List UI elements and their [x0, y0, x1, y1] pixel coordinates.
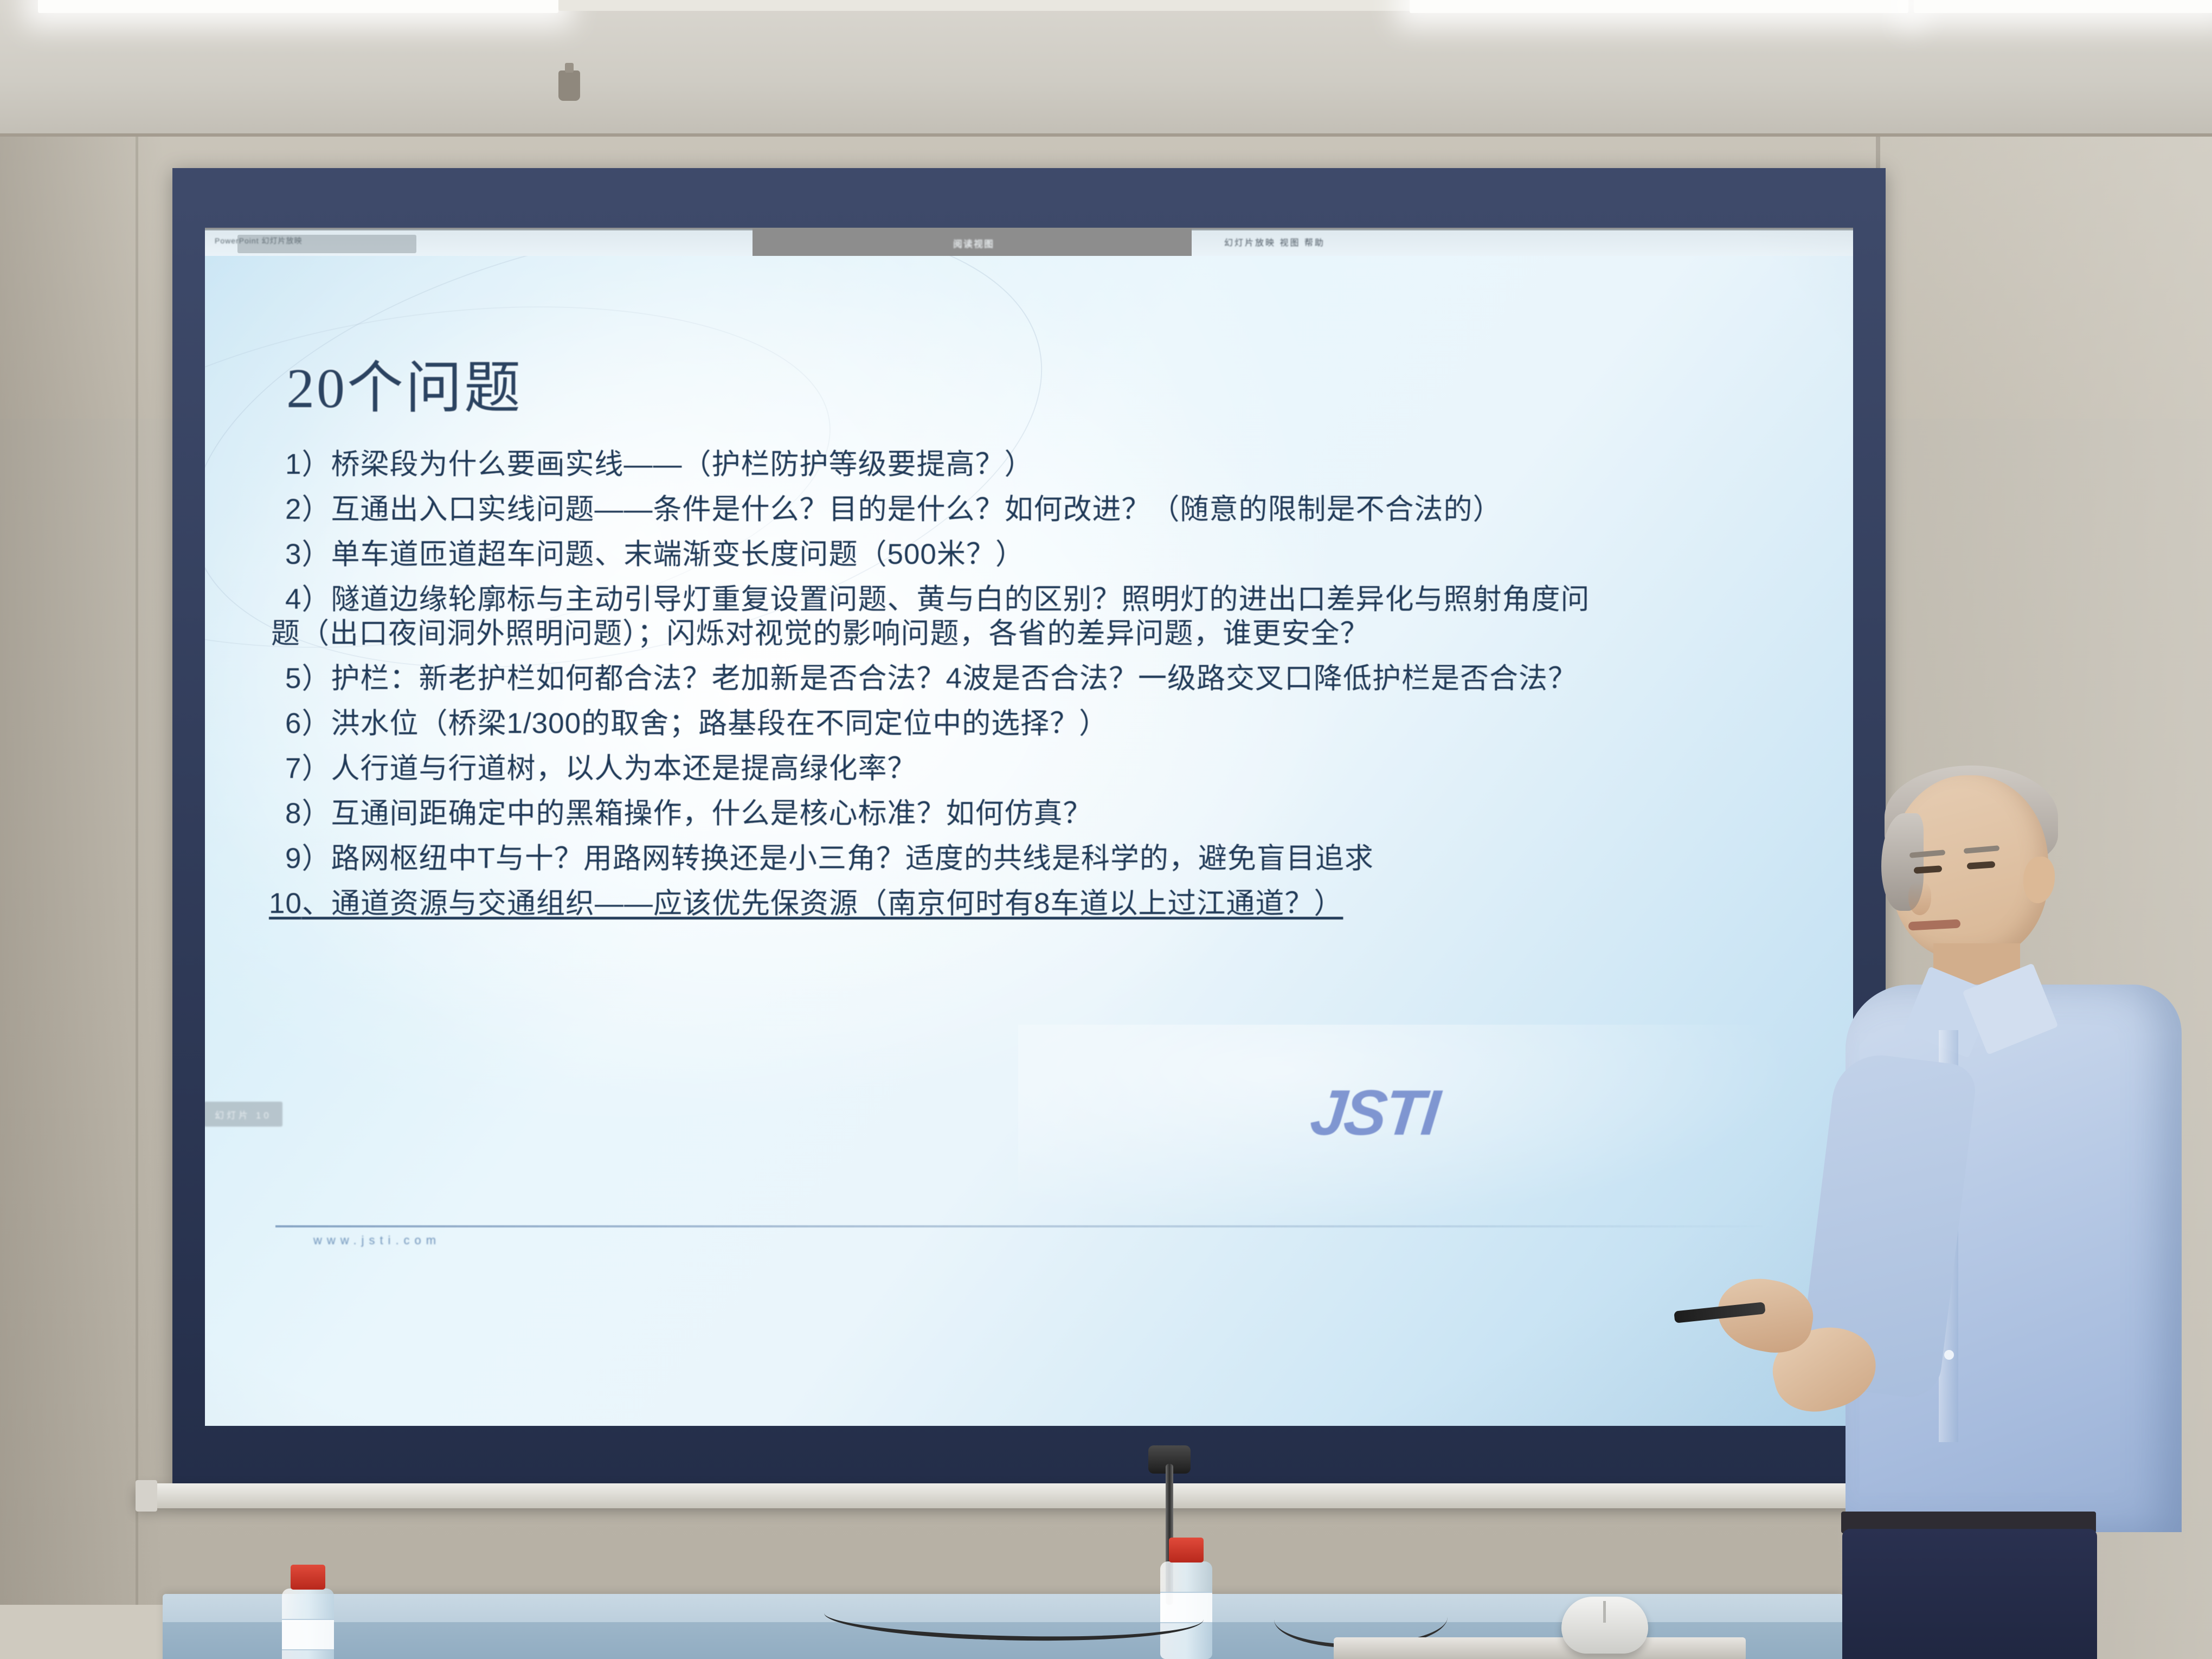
roller-end-cap-left	[136, 1480, 157, 1512]
bottle-cap	[1169, 1538, 1204, 1562]
slideshow-status-chip[interactable]: 幻灯片 10	[205, 1102, 282, 1127]
slide-footer-rule	[275, 1225, 1766, 1227]
slide-bullet-list: 1）桥梁段为什么要画实线——（护栏防护等级要提高？） 2）互通出入口实线问题——…	[285, 450, 1819, 934]
presenter-shirt-button	[1944, 1350, 1954, 1360]
bullet-item-1: 1）桥梁段为什么要画实线——（护栏防护等级要提高？）	[285, 450, 1819, 479]
app-center-label: 阅读视图	[953, 236, 994, 250]
bullet-item-3: 3）单车道匝道超车问题、末端渐变长度问题（500米？）	[285, 540, 1819, 569]
jsti-logo: JSTI	[1307, 1076, 1441, 1150]
bullet-item-5: 5）护栏：新老护栏如何都合法？老加新是否合法？4波是否合法？一级路交叉口降低护栏…	[285, 664, 1819, 693]
projected-slide[interactable]: PowerPoint 幻灯片放映 阅读视图 幻灯片放映 视图 帮助 20个问题 …	[205, 228, 1853, 1426]
bullet-item-4-continuation: 题（出口夜间洞外照明问题）；闪烁对视觉的影响问题，各省的差异问题，谁更安全？	[271, 619, 1819, 648]
app-right-label: 幻灯片放映 视图 帮助	[1224, 235, 1325, 248]
water-bottle	[282, 1589, 334, 1659]
ceiling	[0, 0, 2212, 134]
table-left-shadow	[0, 1605, 179, 1659]
bottle-cap	[291, 1565, 325, 1590]
bullet-item-6: 6）洪水位（桥梁1/300的取舍；路基段在不同定位中的选择？）	[285, 709, 1819, 738]
bullet-item-4: 4）隧道边缘轮廓标与主动引导灯重复设置问题、黄与白的区别？照明灯的进出口差异化与…	[285, 585, 1819, 614]
projection-screen-surface[interactable]: PowerPoint 幻灯片放映 阅读视图 幻灯片放映 视图 帮助 20个问题 …	[205, 228, 1853, 1426]
computer-mouse[interactable]	[1561, 1597, 1648, 1654]
bullet-item-8: 8）互通间距确定中的黑箱操作，什么是核心标准？如何仿真？	[285, 799, 1819, 828]
slide-title: 20个问题	[286, 342, 523, 423]
app-tab-label: PowerPoint 幻灯片放映	[215, 235, 302, 246]
projection-screen-frame: PowerPoint 幻灯片放映 阅读视图 幻灯片放映 视图 帮助 20个问题 …	[172, 168, 1886, 1491]
presenter-nose	[1908, 882, 1931, 915]
bullet-item-10-text: 、通道资源与交通组织——应该优先保资源（南京何时有8车道以上过江通道？）	[302, 888, 1343, 919]
slide-footer-url: www.jsti.com	[313, 1233, 441, 1248]
slide-footer-decoration	[1018, 1025, 1853, 1252]
bullet-item-7: 7）人行道与行道树，以人为本还是提高绿化率？	[285, 754, 1819, 783]
bullet-item-10-number: 10	[269, 888, 302, 919]
presenter-ear	[2023, 857, 2055, 903]
wall-shadow-left	[0, 137, 163, 1659]
screen-roller-housing	[136, 1483, 1925, 1508]
ceiling-light-panel	[38, 0, 558, 13]
wall-seam	[136, 137, 138, 1659]
keyboard[interactable]	[1334, 1637, 1746, 1659]
ceiling-sensor-icon	[558, 70, 580, 101]
bullet-item-9: 9）路网枢纽中T与十？用路网转换还是小三角？适度的共线是科学的，避免盲目追求	[285, 844, 1819, 873]
app-chrome-bar: PowerPoint 幻灯片放映 阅读视图 幻灯片放映 视图 帮助	[205, 228, 1853, 256]
bullet-item-2: 2）互通出入口实线问题——条件是什么？目的是什么？如何改进？（随意的限制是不合法…	[285, 495, 1819, 524]
ceiling-panel	[558, 0, 1415, 11]
presenter	[1832, 775, 2212, 1659]
presenter-trousers	[1842, 1529, 2097, 1659]
bottle-label	[282, 1619, 334, 1650]
conference-room-scene: PowerPoint 幻灯片放映 阅读视图 幻灯片放映 视图 帮助 20个问题 …	[0, 0, 2212, 1659]
ceiling-light-panel	[1914, 0, 2212, 13]
app-window-left[interactable]: PowerPoint 幻灯片放映	[205, 229, 753, 256]
ceiling-light-panel	[1410, 0, 1908, 13]
bullet-item-10: 10、通道资源与交通组织——应该优先保资源（南京何时有8车道以上过江通道？）	[269, 889, 1819, 918]
